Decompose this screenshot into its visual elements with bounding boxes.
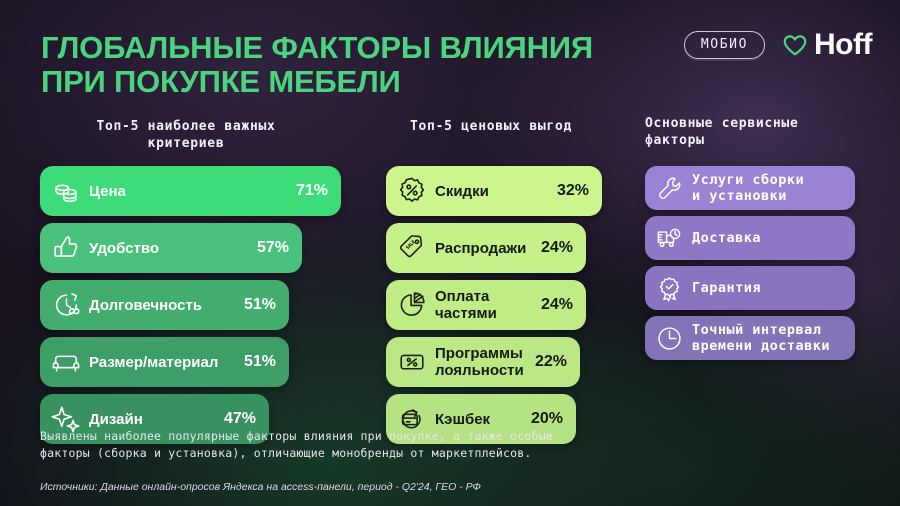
clock-icon bbox=[656, 325, 683, 352]
bar-label: Распродажи bbox=[435, 240, 533, 257]
service-card: Гарантия bbox=[645, 266, 855, 310]
coins-icon bbox=[51, 176, 81, 206]
bar-row: Цена71% bbox=[40, 166, 341, 216]
percent-card-icon bbox=[397, 347, 427, 377]
clock-arrow-icon bbox=[51, 290, 81, 320]
sofa-icon bbox=[51, 347, 81, 377]
bar-value: 32% bbox=[557, 182, 589, 200]
bar-label: Оплата частями bbox=[435, 288, 533, 322]
service-card: Точный интервал времени доставки bbox=[645, 316, 855, 360]
bar-row: SALEРаспродажи24% bbox=[386, 223, 586, 273]
bar-row: Удобство57% bbox=[40, 223, 302, 273]
bar-value: 57% bbox=[257, 239, 289, 257]
bar-value: 51% bbox=[244, 296, 276, 314]
truck-clock-icon bbox=[656, 225, 683, 252]
bar-label: Кэшбек bbox=[435, 411, 523, 428]
bar-value: 22% bbox=[535, 353, 567, 371]
bar-value: 24% bbox=[541, 239, 573, 257]
bar-value: 24% bbox=[541, 296, 573, 314]
bar-row: Оплата частями24% bbox=[386, 280, 586, 330]
bar-label: Цена bbox=[89, 183, 288, 200]
footer-note: Выявлены наиболее популярные факторы вли… bbox=[40, 428, 600, 462]
service-card-label: Точный интервал времени доставки bbox=[692, 322, 830, 354]
footer-source: Источники: Данные онлайн-опросов Яндекса… bbox=[40, 481, 740, 494]
bar-value: 47% bbox=[224, 410, 256, 428]
award-icon bbox=[656, 275, 683, 302]
bar-label: Скидки bbox=[435, 183, 549, 200]
wrench-icon bbox=[656, 175, 683, 202]
service-card: Доставка bbox=[645, 216, 855, 260]
pie-chart-icon bbox=[397, 290, 427, 320]
bar-row: Размер/материал51% bbox=[40, 337, 289, 387]
heart-icon bbox=[783, 35, 807, 56]
discount-badge-icon bbox=[397, 176, 427, 206]
service-card-label: Услуги сборки и установки bbox=[692, 172, 804, 204]
hoff-wordmark: Hoff bbox=[814, 30, 872, 60]
thumbup-icon bbox=[51, 233, 81, 263]
bar-label: Долговечность bbox=[89, 297, 236, 314]
bar-row: Скидки32% bbox=[386, 166, 602, 216]
infographic-canvas: ГЛОБАЛЬНЫЕ ФАКТОРЫ ВЛИЯНИЯ ПРИ ПОКУПКЕ М… bbox=[0, 0, 900, 506]
bar-value: 51% bbox=[244, 353, 276, 371]
bar-row: Долговечность51% bbox=[40, 280, 289, 330]
column-header-service-factors: Основные сервисные факторы bbox=[645, 115, 863, 149]
sale-tag-icon: SALE bbox=[397, 233, 427, 263]
page-title: ГЛОБАЛЬНЫЕ ФАКТОРЫ ВЛИЯНИЯ ПРИ ПОКУПКЕ М… bbox=[41, 31, 593, 99]
bar-label: Удобство bbox=[89, 240, 249, 257]
service-card-label: Гарантия bbox=[692, 280, 761, 296]
service-card: Услуги сборки и установки bbox=[645, 166, 855, 210]
logo-group: МОБИО Hoff bbox=[684, 30, 872, 60]
service-card-label: Доставка bbox=[692, 230, 761, 246]
bar-label: Дизайн bbox=[89, 411, 216, 428]
bar-label: Размер/материал bbox=[89, 354, 236, 371]
column-header-price-benefits: Топ-5 ценовых выгод bbox=[378, 118, 604, 135]
bar-row: Программы лояльности22% bbox=[386, 337, 580, 387]
bar-label: Программы лояльности bbox=[435, 345, 527, 379]
column-header-criteria: Топ-5 наиболее важных критериев bbox=[36, 118, 336, 152]
bar-value: 20% bbox=[531, 410, 563, 428]
hoff-logo: Hoff bbox=[783, 30, 872, 60]
bar-value: 71% bbox=[296, 182, 328, 200]
mobio-logo: МОБИО bbox=[684, 31, 765, 59]
